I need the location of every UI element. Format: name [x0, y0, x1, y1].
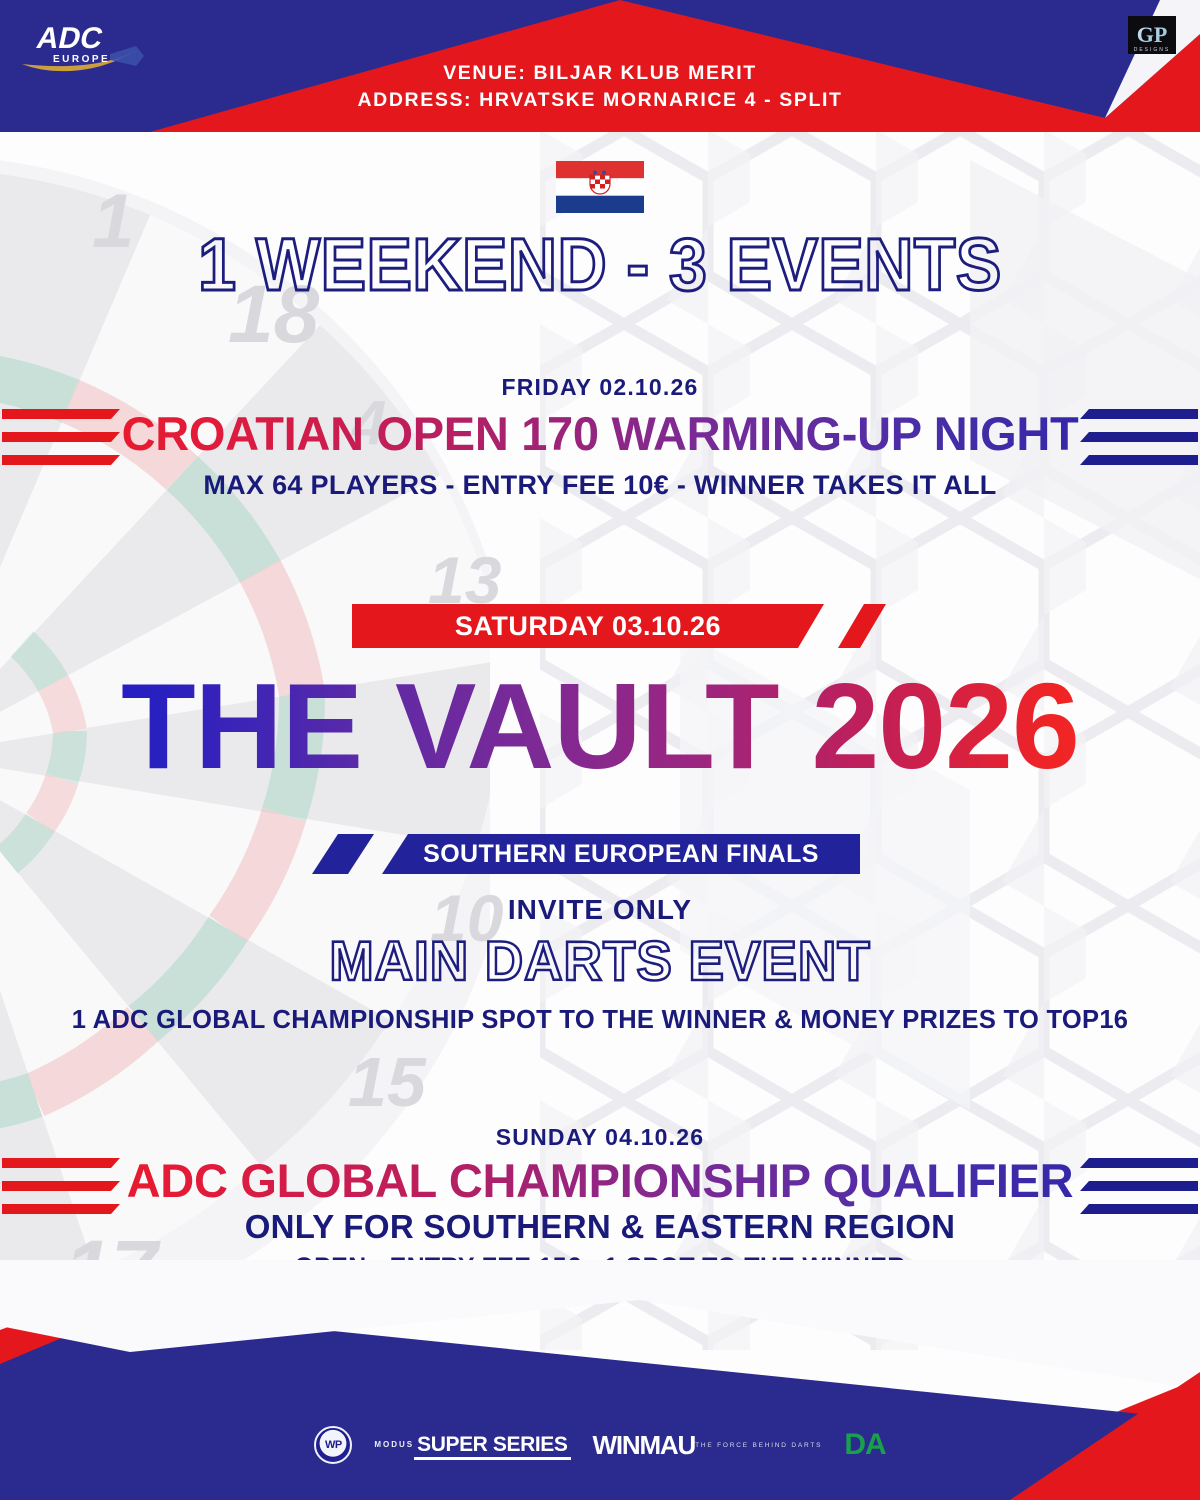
hero-headline: 1 WEEKEND - 3 EVENTS — [48, 222, 1152, 307]
sunday-region-line: ONLY FOR SOUTHERN & EASTERN REGION — [0, 1208, 1200, 1246]
saturday-day-banner: SATURDAY 03.10.26 — [352, 604, 824, 648]
invite-only-label: INVITE ONLY — [0, 894, 1200, 926]
svg-text:GP: GP — [1137, 22, 1168, 47]
friday-title: CROATIAN OPEN 170 WARMING-UP NIGHT — [0, 406, 1200, 461]
venue-info: VENUE: BILJAR KLUB MERIT ADDRESS: HRVATS… — [0, 60, 1200, 114]
finals-banner-slash — [312, 834, 374, 874]
winmau-tagline: THE FORCE BEHIND DARTS — [695, 1443, 822, 1450]
winmau-label: WINMAU — [593, 1432, 696, 1458]
super-series-label: SUPER SERIES — [414, 1432, 570, 1460]
main-darts-event-title: MAIN DARTS EVENT — [30, 928, 1170, 993]
sponsor-row: WP MODUS SUPER SERIES WINMAU THE FORCE B… — [0, 1426, 1200, 1464]
vault-title: THE VAULT 2026 — [0, 662, 1200, 790]
venue-line: VENUE: BILJAR KLUB MERIT — [0, 60, 1200, 87]
sponsor-wp: WP — [314, 1426, 352, 1464]
saturday-day-label: SATURDAY 03.10.26 — [455, 611, 721, 642]
poster-canvas: 1 18 4 13 10 15 17 ADC EUROPE — [0, 0, 1200, 1500]
sunday-title: ADC GLOBAL CHAMPIONSHIP QUALIFIER — [0, 1153, 1200, 1208]
croatia-flag-icon — [556, 161, 644, 213]
sunday-day-label: SUNDAY 04.10.26 — [0, 1124, 1200, 1151]
gp-designs-logo: GP DESIGNS — [1122, 12, 1182, 64]
sponsor-modus-super-series: MODUS SUPER SERIES — [374, 1430, 570, 1460]
footer-shapes — [0, 1260, 1200, 1500]
sponsor-da: DA — [844, 1428, 885, 1462]
saturday-banner-slash — [838, 604, 886, 648]
modus-label: MODUS — [374, 1441, 414, 1449]
wp-badge-icon: WP — [314, 1426, 352, 1464]
address-line: ADDRESS: HRVATSKE MORNARICE 4 - SPLIT — [0, 87, 1200, 114]
sponsor-winmau: WINMAU THE FORCE BEHIND DARTS — [593, 1432, 823, 1458]
friday-day-label: FRIDAY 02.10.26 — [0, 374, 1200, 401]
svg-text:ADC: ADC — [34, 22, 106, 55]
saturday-prize-line: 1 ADC GLOBAL CHAMPIONSHIP SPOT TO THE WI… — [0, 1006, 1200, 1035]
footer: WP MODUS SUPER SERIES WINMAU THE FORCE B… — [0, 1260, 1200, 1500]
finals-banner-label: SOUTHERN EUROPEAN FINALS — [423, 840, 819, 869]
friday-details: MAX 64 PLAYERS - ENTRY FEE 10€ - WINNER … — [0, 470, 1200, 501]
finals-banner: SOUTHERN EUROPEAN FINALS — [382, 834, 860, 874]
wp-label: WP — [325, 1439, 342, 1451]
svg-text:DESIGNS: DESIGNS — [1134, 47, 1171, 53]
